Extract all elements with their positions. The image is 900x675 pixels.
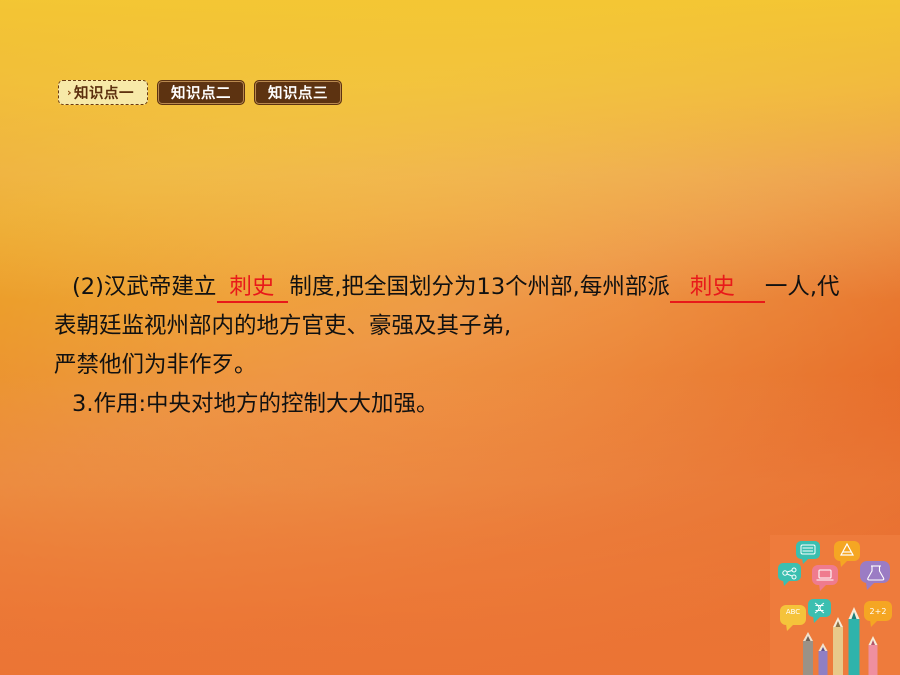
- slide-body-text: (2)汉武帝建立刺史制度,把全国划分为13个州部,每州部派刺史一人,代表朝廷监视…: [54, 268, 854, 424]
- tab-bar: › 知识点一 知识点二 知识点三: [58, 80, 342, 105]
- fill-blank-1: 刺史: [217, 274, 288, 303]
- tab-label-3: 知识点三: [268, 82, 328, 103]
- fill-blank-2: 刺史: [670, 274, 765, 303]
- paragraph-line-3: 严禁他们为非作歹。: [54, 346, 854, 385]
- paragraph-line-4: 3.作用:中央对地方的控制大大加强。: [72, 385, 854, 424]
- pencil-teal: [849, 607, 860, 675]
- abc-icon: ABC: [786, 608, 800, 616]
- paragraph-2: (2)汉武帝建立刺史制度,把全国划分为13个州部,每州部派刺史一人,代表朝廷监视…: [54, 268, 854, 346]
- pencil-cream: [833, 617, 843, 675]
- tab-label-2: 知识点二: [171, 82, 231, 103]
- education-illustration: ABC 2+2: [770, 535, 900, 675]
- tab-knowledge-point-2[interactable]: 知识点二: [157, 80, 245, 105]
- paragraph-prefix: (2)汉武帝建立: [72, 274, 216, 300]
- tab-knowledge-point-3[interactable]: 知识点三: [254, 80, 342, 105]
- tab-label-1: 知识点一: [74, 82, 134, 103]
- chevron-right-icon: ›: [67, 87, 72, 98]
- pencil-grey: [803, 632, 813, 675]
- math-icon: 2+2: [870, 607, 887, 616]
- slide-canvas: › 知识点一 知识点二 知识点三 (2)汉武帝建立刺史制度,把全国划分为13个州…: [0, 0, 900, 675]
- paragraph-middle: 制度,把全国划分为13个州部,每州部派: [289, 274, 669, 300]
- tab-knowledge-point-1[interactable]: › 知识点一: [58, 80, 148, 105]
